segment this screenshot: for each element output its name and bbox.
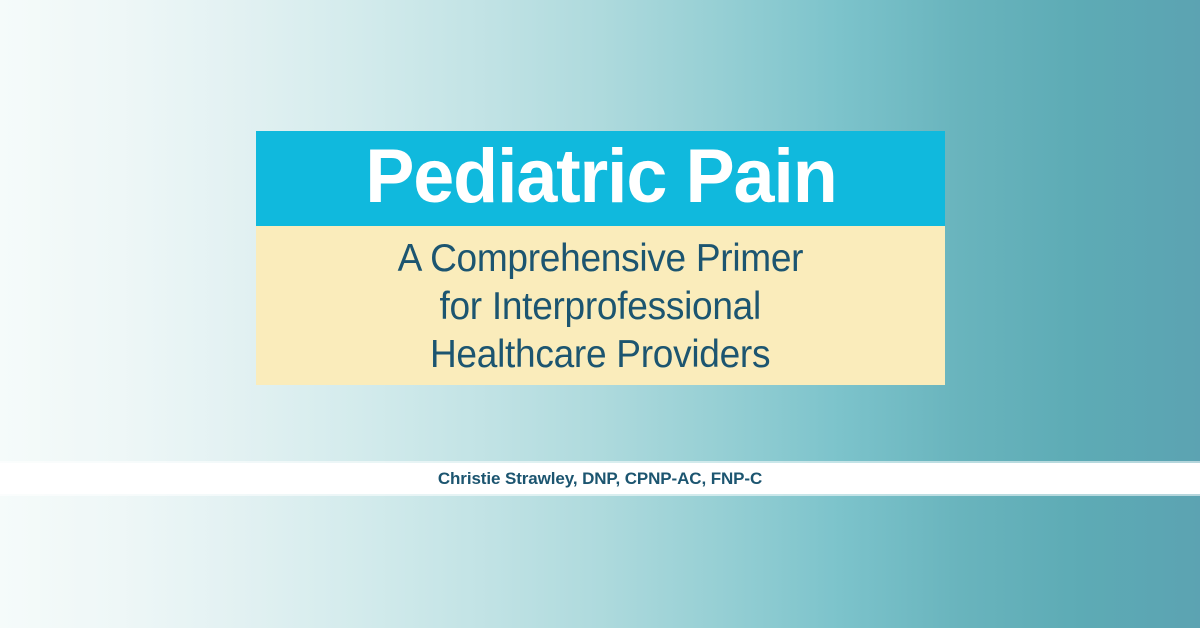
title-banner: Pediatric Pain — [256, 131, 945, 226]
author-credit: Christie Strawley, DNP, CPNP-AC, FNP-C — [0, 463, 1200, 494]
subtitle-line-1: A Comprehensive Primer — [398, 235, 804, 283]
title-card: Pediatric Pain A Comprehensive Primer fo… — [256, 131, 945, 385]
title-slide: Pediatric Pain A Comprehensive Primer fo… — [0, 0, 1200, 628]
subtitle-block: A Comprehensive Primer for Interprofessi… — [256, 226, 945, 385]
page-title: Pediatric Pain — [365, 139, 836, 215]
subtitle-line-2: for Interprofessional — [440, 283, 761, 331]
subtitle-line-3: Healthcare Providers — [430, 331, 770, 379]
